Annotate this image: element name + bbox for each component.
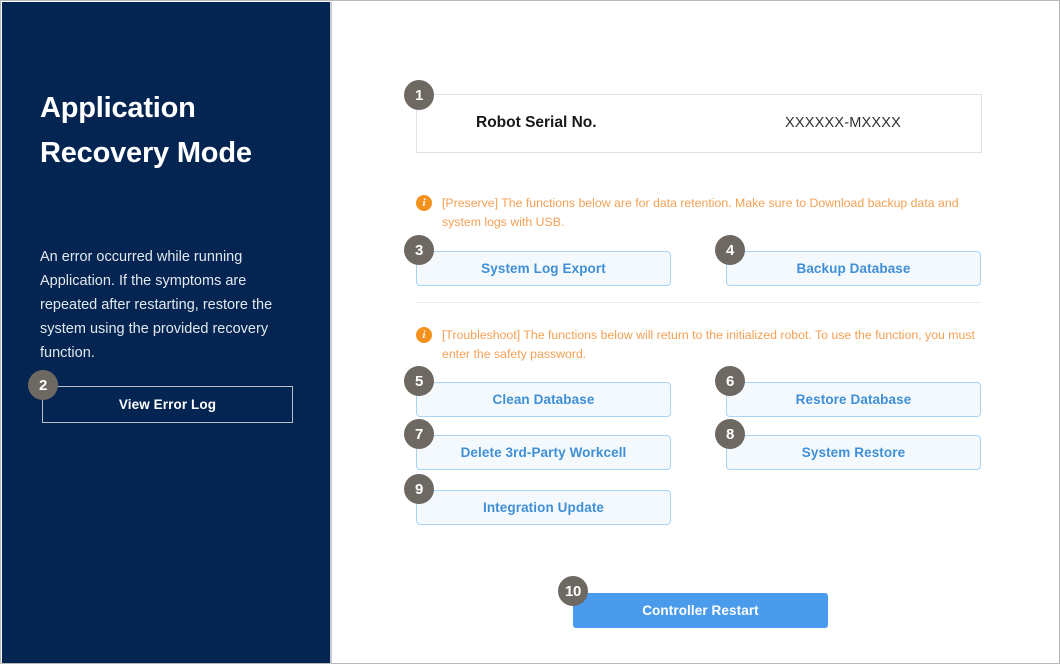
controller-restart-button[interactable]: Controller Restart <box>573 593 828 628</box>
error-description: An error occurred while running Applicat… <box>40 245 298 365</box>
step-badge-8: 8 <box>715 419 745 449</box>
step-badge-10: 10 <box>558 576 588 606</box>
step-badge-2: 2 <box>28 370 58 400</box>
view-error-log-group: 2 View Error Log <box>42 386 293 423</box>
main-content: 1 Robot Serial No. XXXXXX-MXXXX i [Prese… <box>334 2 1058 662</box>
robot-serial-label: Robot Serial No. <box>476 114 597 132</box>
restore-database-button[interactable]: Restore Database <box>726 382 981 417</box>
application-recovery-mode-screen: Application Recovery Mode An error occur… <box>0 0 1060 664</box>
step-badge-9: 9 <box>404 474 434 504</box>
step-badge-3: 3 <box>404 235 434 265</box>
robot-serial-box: Robot Serial No. XXXXXX-MXXXX <box>416 94 982 153</box>
system-restore-button[interactable]: System Restore <box>726 435 981 470</box>
backup-database-button[interactable]: Backup Database <box>726 251 981 286</box>
delete-3rd-party-workcell-button[interactable]: Delete 3rd-Party Workcell <box>416 435 671 470</box>
system-log-export-button[interactable]: System Log Export <box>416 251 671 286</box>
step-badge-1: 1 <box>404 80 434 110</box>
step-badge-6: 6 <box>715 366 745 396</box>
preserve-notice: i [Preserve] The functions below are for… <box>416 194 982 232</box>
step-badge-5: 5 <box>404 366 434 396</box>
view-error-log-button[interactable]: View Error Log <box>42 386 293 423</box>
preserve-notice-text: [Preserve] The functions below are for d… <box>442 194 982 232</box>
page-title: Application Recovery Mode <box>40 86 300 176</box>
integration-update-button[interactable]: Integration Update <box>416 490 671 525</box>
info-icon: i <box>416 327 432 343</box>
info-icon: i <box>416 195 432 211</box>
section-divider <box>416 302 982 303</box>
clean-database-button[interactable]: Clean Database <box>416 382 671 417</box>
sidebar: Application Recovery Mode An error occur… <box>2 2 332 664</box>
troubleshoot-notice: i [Troubleshoot] The functions below wil… <box>416 326 982 364</box>
troubleshoot-notice-text: [Troubleshoot] The functions below will … <box>442 326 982 364</box>
step-badge-4: 4 <box>715 235 745 265</box>
robot-serial-value: XXXXXX-MXXXX <box>785 115 901 131</box>
step-badge-7: 7 <box>404 419 434 449</box>
